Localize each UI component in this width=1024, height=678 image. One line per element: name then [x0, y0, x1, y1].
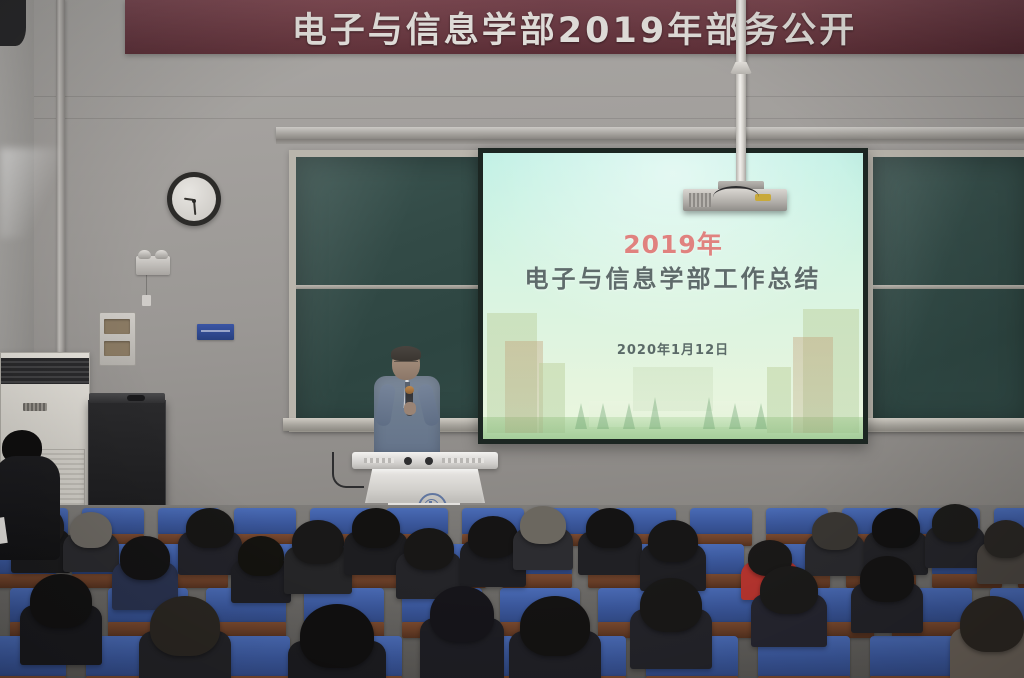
audience-member-head [984, 520, 1024, 558]
presenter-hand [404, 402, 416, 415]
podium-front-panel [365, 469, 485, 503]
slide-tree [597, 403, 609, 429]
audience-member-head [430, 586, 494, 642]
speaker-handle [127, 395, 145, 401]
event-banner: 电子与信息学部2019年部务公开 [125, 0, 1024, 54]
ceiling-corner-shadow [0, 0, 26, 46]
audience-member [238, 536, 284, 576]
right-chalk-tray [860, 418, 1024, 431]
clock-face [172, 177, 216, 221]
projector-vent [689, 193, 711, 207]
panel-slot [104, 319, 130, 334]
slide-tree [703, 397, 715, 429]
presenter [374, 348, 440, 456]
panel-slot [104, 341, 130, 356]
podium-control-surface [352, 452, 498, 469]
audience-member-head [932, 504, 978, 542]
auditorium-seat [870, 636, 962, 676]
audience-member [640, 578, 702, 632]
audience-member-head [238, 536, 284, 576]
slide-tree [755, 403, 767, 429]
right-chalkboard [866, 150, 1024, 432]
audience-member-head [586, 508, 634, 548]
audience-member [984, 520, 1024, 558]
ac-top-grille [1, 358, 89, 384]
audience-member [30, 574, 92, 628]
audience-member-head [70, 512, 112, 548]
audience-member [520, 596, 590, 656]
audience-member [430, 586, 494, 642]
lecture-hall-scene: 电子与信息学部2019年部务公开 [0, 0, 1024, 678]
projector-mount-pole [736, 0, 746, 185]
board-top-rail [276, 127, 1024, 139]
ceiling-projector [683, 189, 787, 211]
audience-member-head [640, 578, 702, 632]
audience-member [872, 508, 920, 548]
slide-tree [623, 403, 635, 429]
audience-member [932, 504, 978, 542]
audience-member-head [120, 536, 170, 580]
audience-member-head [468, 516, 518, 558]
audience-member [352, 508, 400, 548]
audience-member [860, 556, 914, 602]
audience-member [150, 596, 220, 656]
loudspeaker-cabinet [88, 400, 166, 512]
blue-wall-sign [197, 324, 234, 340]
projection-screen-frame: 2019年 电子与信息学部工作总结 2020年1月12日 [478, 148, 868, 444]
audience-member-head [352, 508, 400, 548]
audience-member [468, 516, 518, 558]
audience-member-head [872, 508, 920, 548]
emergency-light-fixture [136, 256, 170, 275]
audience-member-head [648, 520, 698, 562]
projection-screen: 2019年 电子与信息学部工作总结 2020年1月12日 [483, 153, 863, 439]
slide-distant-building [633, 367, 713, 411]
podium-knob[interactable] [404, 457, 412, 465]
audience-member [812, 512, 858, 550]
audience-member [760, 566, 818, 614]
wall-clock [167, 172, 221, 226]
audience-member [520, 506, 566, 544]
window-light-streak [0, 148, 60, 238]
audience-member [648, 520, 698, 562]
audience-member-head [186, 508, 234, 548]
wall-socket [142, 295, 151, 306]
slide-title-text: 电子与信息学部工作总结 [483, 259, 863, 294]
audience-member-head [150, 596, 220, 656]
audience-member [70, 512, 112, 548]
clock-center-pin [192, 199, 196, 203]
slide-date-text: 2020年1月12日 [483, 339, 863, 358]
slide-tree [575, 403, 587, 429]
microphone-head [405, 386, 414, 394]
banner-text: 电子与信息学部2019年部务公开 [125, 0, 1024, 54]
foreground-person-coat [0, 456, 60, 560]
audience-member [292, 520, 344, 564]
board-top-rail-shadow [276, 139, 1024, 144]
auditorium-seat [234, 508, 296, 534]
audience-member-head [292, 520, 344, 564]
electrical-panel-box [99, 312, 136, 366]
audience-member-head [860, 556, 914, 602]
audience-member-head [404, 528, 454, 570]
audience-member [960, 596, 1024, 652]
slide-year-text: 2019年 [483, 225, 863, 261]
audience-member-head [300, 604, 374, 668]
podium-knob[interactable] [425, 457, 433, 465]
audience-member [120, 536, 170, 580]
audience-member-head [812, 512, 858, 550]
presenter-hair [391, 346, 421, 361]
auditorium-seat [690, 508, 752, 534]
audience-member-head [760, 566, 818, 614]
audience-member [586, 508, 634, 548]
audience-member-head [520, 506, 566, 544]
slide-tree [729, 403, 741, 429]
audience-member [300, 604, 374, 668]
slide-tree [649, 397, 661, 429]
audience-member-head [520, 596, 590, 656]
emergency-light-cord [146, 275, 147, 297]
slide-building [539, 363, 565, 433]
podium-vent-strip [364, 458, 394, 463]
chalkboard-glare [873, 157, 1024, 425]
presenter-glasses [394, 361, 418, 367]
audience-member-head [30, 574, 92, 628]
ac-control-panel[interactable] [23, 403, 47, 411]
audience-member-head [960, 596, 1024, 652]
audience-member [186, 508, 234, 548]
foreground-standing-person [0, 430, 66, 560]
audience-member [404, 528, 454, 570]
slide-building [767, 367, 791, 433]
podium-vent-strip [442, 458, 484, 463]
